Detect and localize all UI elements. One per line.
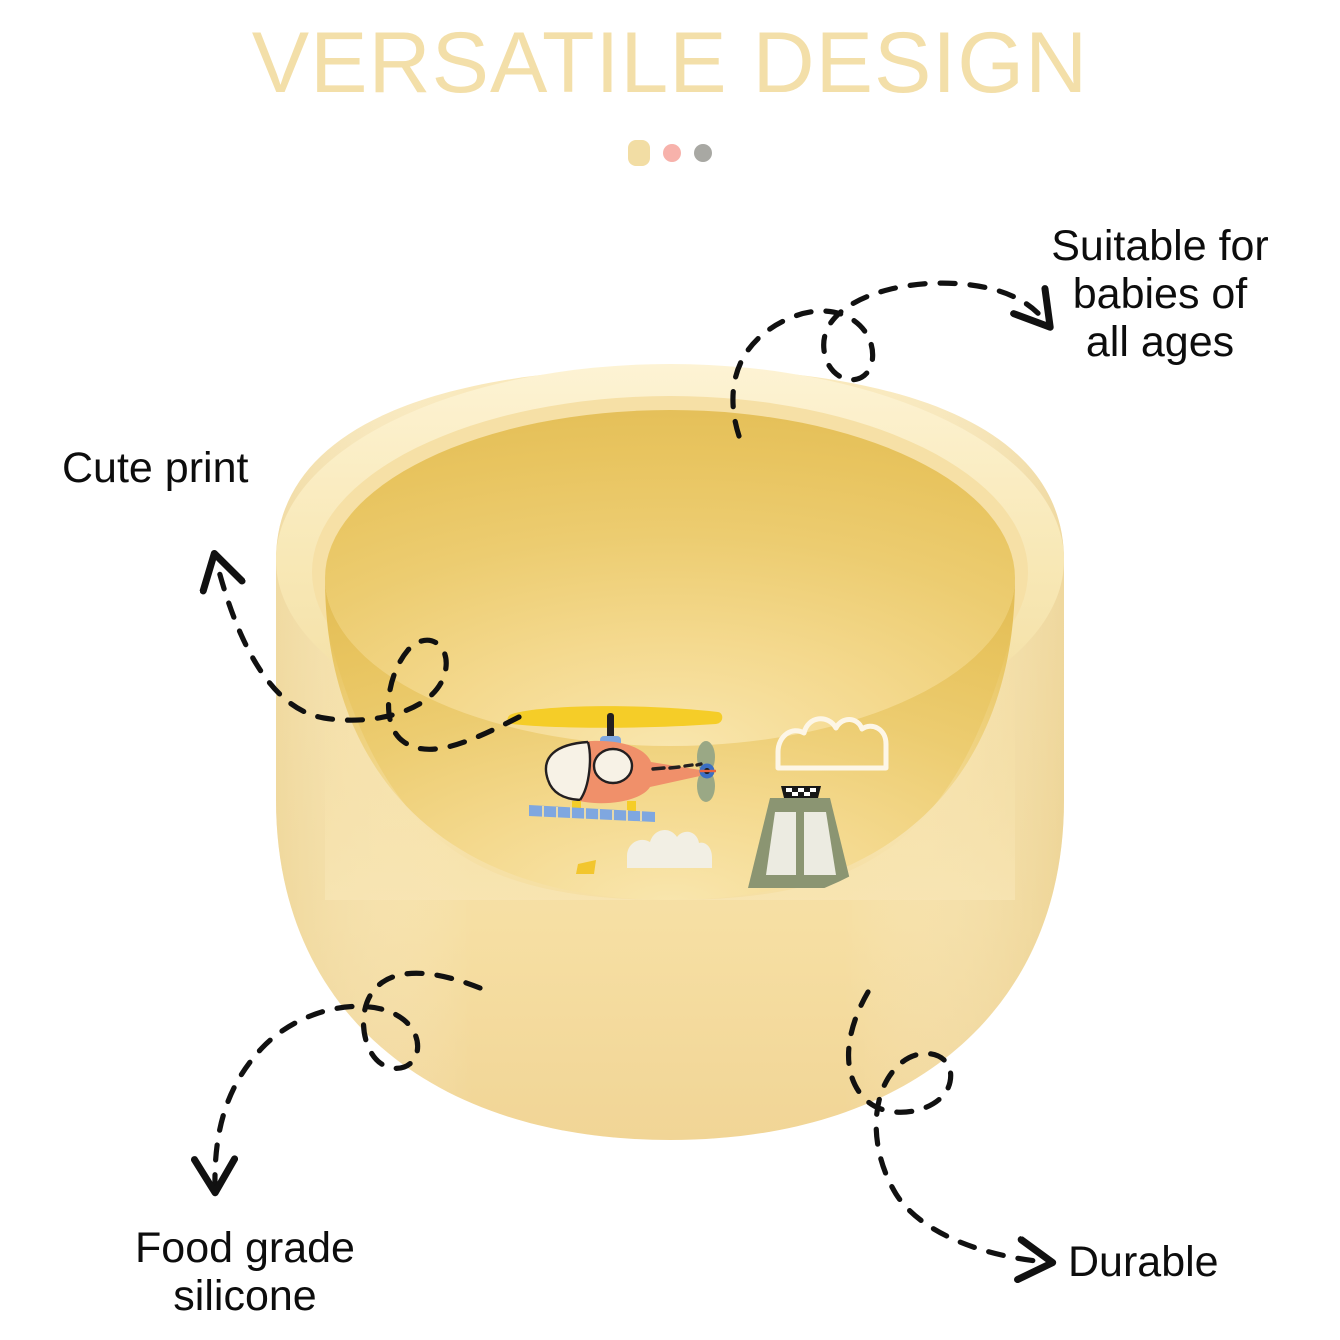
callout-suitable-ages: Suitable for babies of all ages xyxy=(1010,222,1310,366)
arrow-to-food-grade xyxy=(215,973,480,1186)
arrow-to-cute-print xyxy=(216,560,519,749)
product-illustration xyxy=(0,0,1340,1340)
callout-food-grade-silicone: Food grade silicone xyxy=(90,1224,400,1320)
tail-rotor xyxy=(697,741,715,802)
color-swatch-pink[interactable] xyxy=(663,144,681,162)
bowl-rim-inner-edge xyxy=(312,396,1028,748)
color-swatch-row xyxy=(0,140,1340,166)
landing-skid xyxy=(529,805,655,822)
control-tower-icon xyxy=(748,786,852,888)
print-scene xyxy=(508,706,887,888)
helicopter-icon xyxy=(508,706,723,822)
bowl-rim xyxy=(276,364,1064,756)
runway-marker-icon xyxy=(576,860,596,874)
cloud-outline-icon xyxy=(778,719,886,768)
cloud-filled-icon xyxy=(627,830,712,868)
color-swatch-yellow[interactable] xyxy=(628,140,650,166)
arrow-to-durable xyxy=(849,992,1046,1262)
bowl-body xyxy=(276,368,1064,1140)
arrow-to-suitable-ages xyxy=(733,283,1046,436)
bowl-interior xyxy=(325,410,1015,900)
callout-durable: Durable xyxy=(1068,1238,1219,1286)
page-title: VERSATILE DESIGN xyxy=(0,18,1340,108)
color-swatch-gray[interactable] xyxy=(694,144,712,162)
callout-cute-print: Cute print xyxy=(62,444,248,492)
